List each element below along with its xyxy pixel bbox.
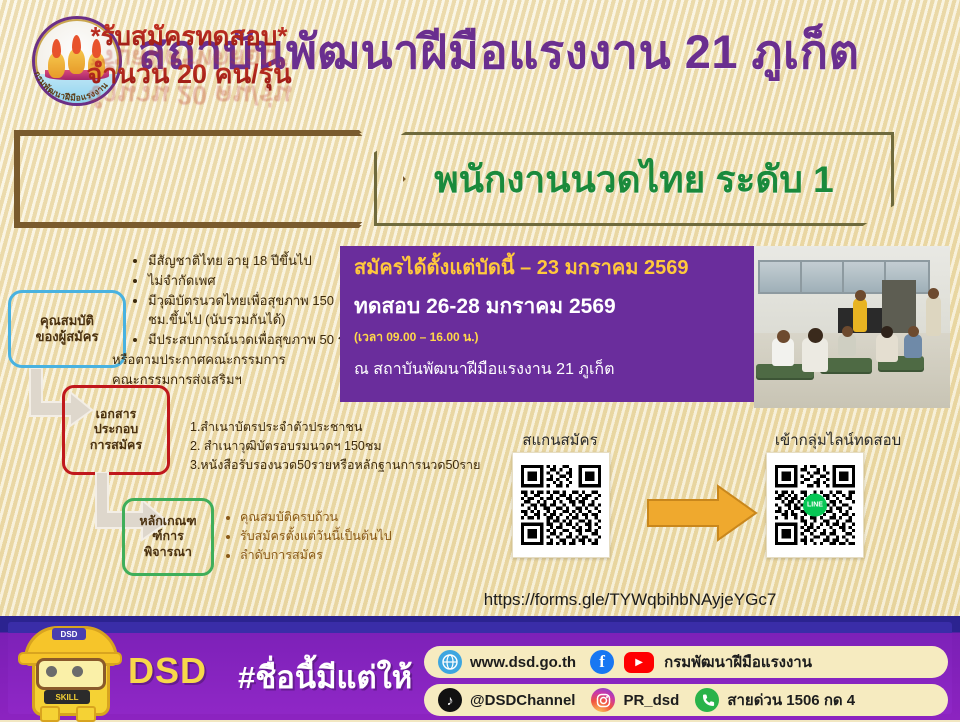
tiktok-icon[interactable]: ♪ [438,688,462,712]
documents-list: 1.สำเนาบัตรประจำตัวประชาชน 2. สำเนาวุฒิบ… [190,418,500,475]
mascot-chest-label: SKILL [44,690,90,704]
facebook-icon[interactable]: f [590,650,614,674]
poster-canvas: กรมพัฒนาฝีมือแรงงาน สถาบันพัฒนาฝีมือแรงง… [0,0,960,720]
callout-qualifications-line1: คุณสมบัติ [36,313,99,329]
instagram-icon[interactable] [591,688,615,712]
list-item: มีสัญชาติไทย อายุ 18 ปีขึ้นไป [148,252,360,271]
test-time: (เวลา 09.00 – 16.00 น.) [354,328,740,347]
list-item: 2. สำเนาวุฒิบัตรอบรมนวดฯ 150ชม [190,437,500,456]
callout-documents-line2: ประกอบ [90,422,142,438]
qualifications-list: มีสัญชาติไทย อายุ 18 ปีขึ้นไป ไม่จำกัดเพ… [130,252,360,390]
qualifications-note-1: หรือตามประกาศคณะกรรมการ [112,351,360,370]
callout-criteria-line1: หลักเกณฑ [139,514,196,530]
qr-apply-label: สแกนสมัคร [470,428,650,452]
application-period: สมัครได้ตั้งแต่บัดนี้ – 23 มกราคม 2569 [354,256,740,280]
callout-qualifications: คุณสมบัติ ของผู้สมัคร [8,290,126,368]
youtube-icon[interactable]: ▶ [624,652,654,673]
phone-icon [695,688,719,712]
list-item: ไม่จำกัดเพศ [148,272,360,291]
qr-line-label: เข้ากลุ่มไลน์ทดสอบ [738,428,938,452]
dsd-mascot-icon: DSD SKILL [14,622,126,718]
list-item: ลำดับการสมัคร [240,546,432,565]
criteria-list: คุณสมบัติครบถ้วน รับสมัครตั้งแต่วันนี้เป… [222,508,432,565]
training-room-photo [754,246,950,408]
globe-icon [438,650,462,674]
list-item: มีประสบการณ์นวดเพื่อสุขภาพ 50 ราย [148,331,360,350]
footer-contact-row-2: ♪ @DSDChannel PR_dsd สายด่วน 1506 กด 4 [424,684,948,716]
website-url[interactable]: www.dsd.go.th [470,654,576,671]
flow-arrow-orange-icon [646,484,758,547]
qualifications-note-2: คณะกรรมการส่งเสริมฯ [112,371,360,390]
recruit-line2: จำนวน 20 คน/รุ่น [54,52,324,95]
recruit-ribbon [14,130,406,228]
social-account-name: กรมพัฒนาฝีมือแรงงาน [664,650,812,674]
test-date: ทดสอบ 26-28 มกราคม 2569 [354,294,740,319]
list-item: รับสมัครตั้งแต่วันนี้เป็นต้นไป [240,527,432,546]
footer-contact-row-1: www.dsd.go.th f ▶ กรมพัฒนาฝีมือแรงงาน [424,646,948,678]
footer-brand: DSD [128,650,207,692]
callout-documents: เอกสาร ประกอบ การสมัคร [62,385,170,475]
google-form-url[interactable]: https://forms.gle/TYWqbihbNAyjeYGc7 [420,590,840,610]
callout-documents-line3: การสมัคร [90,438,142,454]
hotline-number: สายด่วน 1506 กด 4 [727,688,855,712]
callout-documents-line1: เอกสาร [90,407,142,423]
tiktok-handle[interactable]: @DSDChannel [470,692,575,709]
list-item: คุณสมบัติครบถ้วน [240,508,432,527]
list-item: มีวุฒิบัตรนวดไทยเพื่อสุขภาพ 150 ชม.ขึ้นไ… [148,292,360,330]
instagram-handle[interactable]: PR_dsd [623,692,679,709]
footer-hashtag: #ชื่อนี้มีแต่ให้ [238,652,412,702]
line-logo-icon: LINE [803,494,827,517]
course-title: พนักงานนวดไทย ระดับ 1 [374,132,894,226]
test-venue: ณ สถาบันพัฒนาฝีมือแรงงาน 21 ภูเก็ต [354,357,740,382]
qr-line-card[interactable]: LINE [766,452,864,558]
qr-apply-card[interactable] [512,452,610,558]
callout-criteria: หลักเกณฑ ฑ์การ พิจารณา [122,498,214,576]
list-item: 1.สำเนาบัตรประจำตัวประชาชน [190,418,500,437]
callout-qualifications-line2: ของผู้สมัคร [36,329,99,345]
callout-criteria-line2: ฑ์การ [139,529,196,545]
schedule-info-box: สมัครได้ตั้งแต่บัดนี้ – 23 มกราคม 2569 ท… [340,246,754,402]
list-item: 3.หนังสือรับรองนวด50รายหรือหลักฐานการนวด… [190,456,500,475]
callout-criteria-line3: พิจารณา [139,545,196,561]
recruit-line1: *รับสมัครทดสอบ* [54,16,324,57]
qr-apply-code-icon[interactable] [521,465,601,545]
mascot-helmet-label: DSD [52,628,86,640]
